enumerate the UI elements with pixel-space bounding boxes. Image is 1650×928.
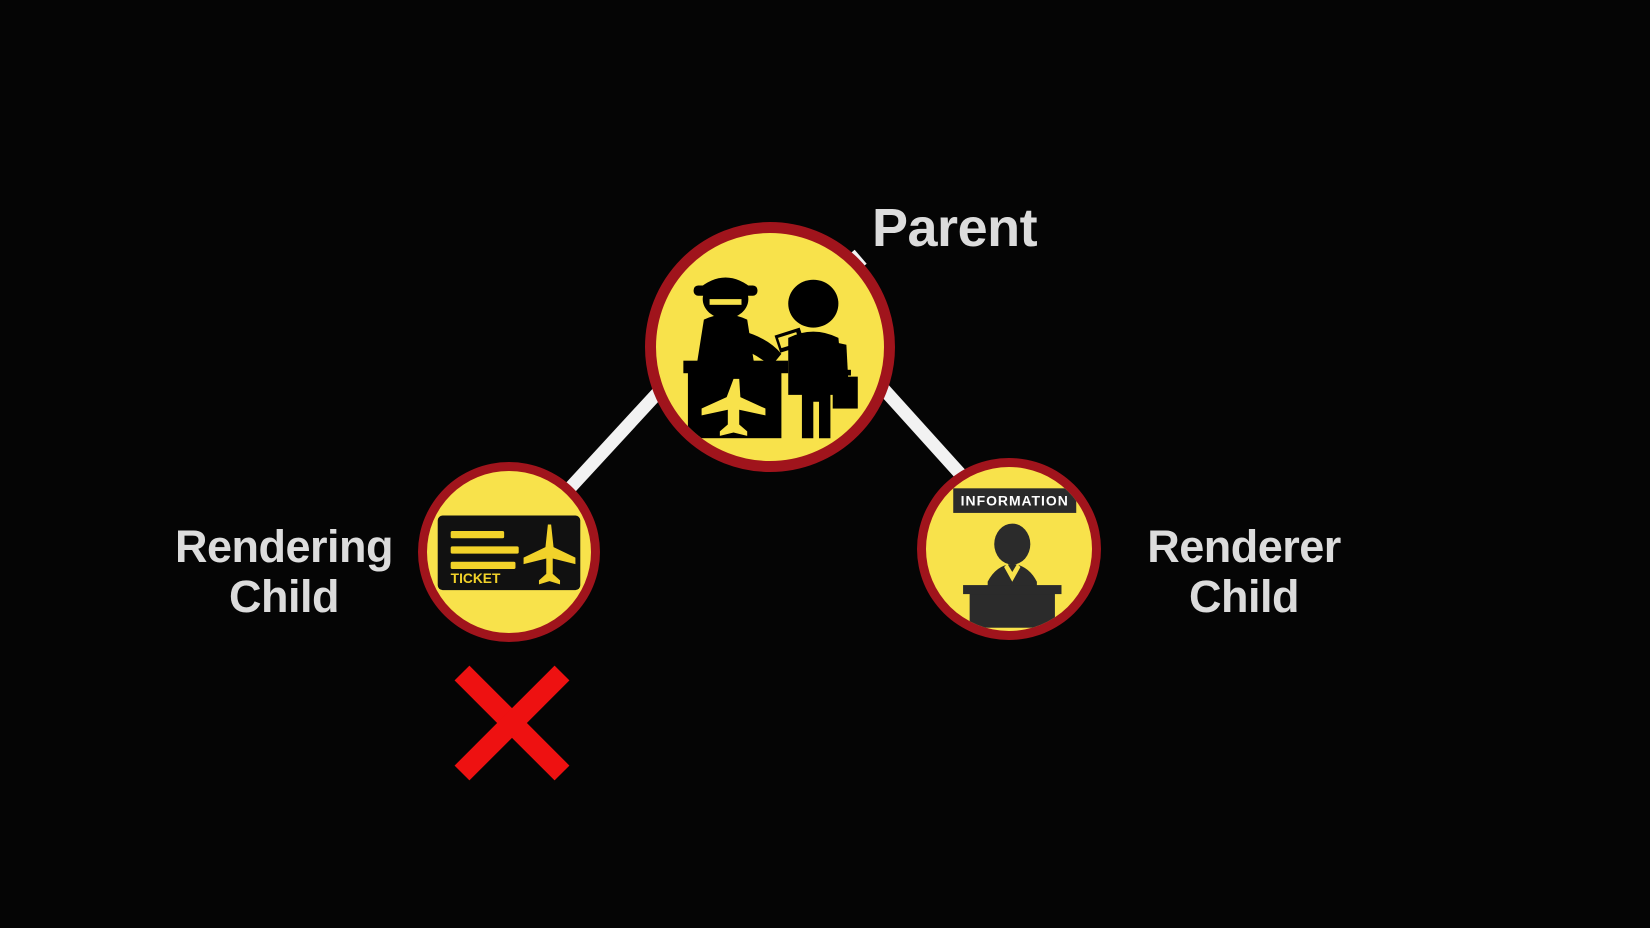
edge-parent-to-renderer-child [879, 384, 963, 477]
diagram-canvas: TICKET INFORMATION Parent Rendering Chil… [0, 0, 1650, 928]
invalid-marker-icon [452, 663, 572, 783]
information-desk-icon: INFORMATION [926, 467, 1092, 631]
node-rendering-child-label: Rendering Child [160, 522, 408, 623]
node-rendering-child[interactable]: TICKET [418, 462, 600, 642]
ticket-icon-label: TICKET [451, 571, 501, 586]
node-renderer-child-label: Renderer Child [1130, 522, 1358, 623]
airline-ticket-icon: TICKET [427, 471, 591, 633]
node-renderer-child[interactable]: INFORMATION [917, 458, 1101, 640]
node-parent[interactable] [645, 222, 895, 472]
information-icon-label: INFORMATION [961, 493, 1069, 509]
edge-parent-to-rendering-child [570, 386, 664, 488]
node-parent-label: Parent [872, 198, 1037, 258]
edge-layer [0, 0, 1650, 928]
airport-check-in-desk-icon [656, 233, 884, 461]
